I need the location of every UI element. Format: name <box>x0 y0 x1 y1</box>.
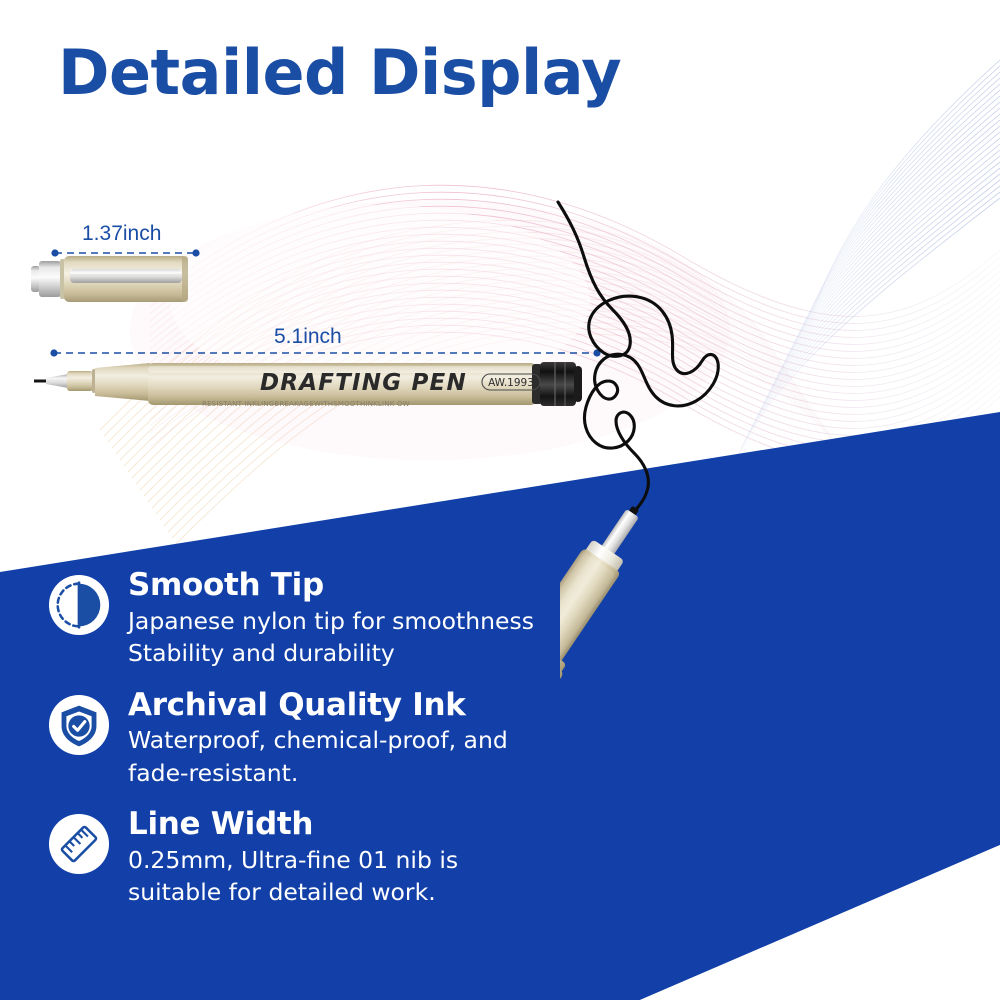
feature-title: Smooth Tip <box>128 568 608 603</box>
pen-length-label: 5.1inch <box>274 325 342 349</box>
half-circle-tip-icon <box>48 574 110 636</box>
feature-description: Japanese nylon tip for smoothness Stabil… <box>128 605 608 670</box>
page-title: Detailed Display <box>58 42 621 104</box>
feature-description: Waterproof, chemical-proof, and fade-res… <box>128 724 608 789</box>
feature-item-archival-ink: Archival Quality Ink Waterproof, chemica… <box>48 688 608 790</box>
cap-length-label: 1.37inch <box>82 222 161 246</box>
feature-item-line-width: Line Width 0.25mm, Ultra-fine 01 nib is … <box>48 807 608 909</box>
feature-title: Line Width <box>128 807 608 842</box>
feature-title: Archival Quality Ink <box>128 688 608 723</box>
feature-item-smooth-tip: Smooth Tip Japanese nylon tip for smooth… <box>48 568 608 670</box>
ruler-icon <box>48 813 110 875</box>
feature-list: Smooth Tip Japanese nylon tip for smooth… <box>48 568 608 927</box>
feature-description: 0.25mm, Ultra-fine 01 nib is suitable fo… <box>128 844 608 909</box>
shield-check-icon <box>48 694 110 756</box>
infographic-canvas: Detailed Display 1.37inch 5.1inch <box>0 0 1000 1000</box>
